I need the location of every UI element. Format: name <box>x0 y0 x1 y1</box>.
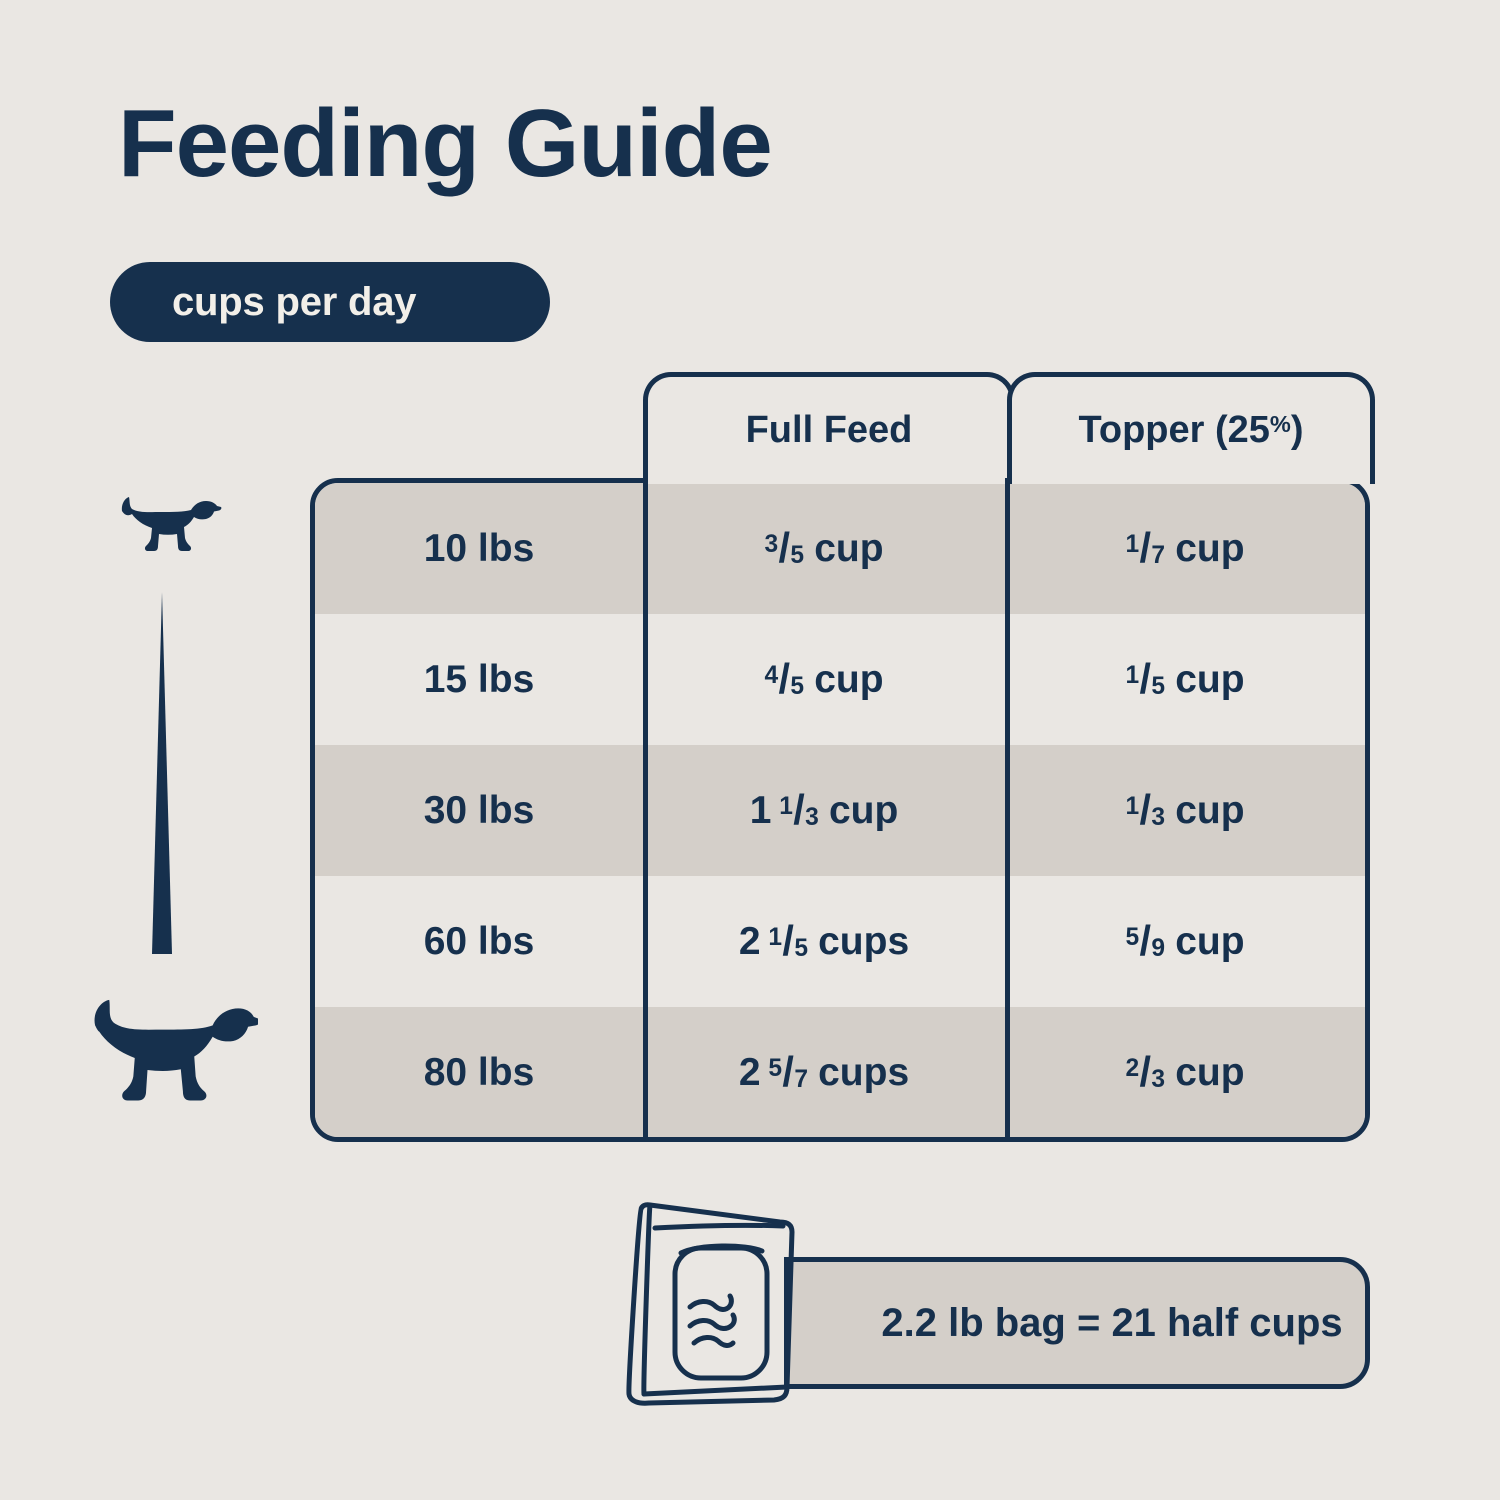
cell-weight: 15 lbs <box>315 614 643 745</box>
cell-topper: 1/5cup <box>1005 614 1365 745</box>
cell-topper: 5/9cup <box>1005 876 1365 1007</box>
table-row: 80 lbs 25/7cups 2/3cup <box>315 1007 1365 1138</box>
page-title: Feeding Guide <box>118 96 772 192</box>
large-dog-icon <box>88 992 258 1114</box>
table-row: 60 lbs 21/5cups 5/9cup <box>315 876 1365 1007</box>
cell-full-feed: 3/5cup <box>643 483 1005 614</box>
feeding-table: Full Feed Topper (25%) 10 lbs 3/5cup 1/7… <box>310 372 1370 1142</box>
size-gradient-wedge-icon <box>142 592 182 962</box>
cell-full-feed: 4/5cup <box>643 614 1005 745</box>
table-row: 15 lbs 4/5cup 1/5cup <box>315 614 1365 745</box>
bag-note: 2.2 lb bag = 21 half cups <box>618 1195 1378 1410</box>
cell-weight: 30 lbs <box>315 745 643 876</box>
small-dog-icon <box>118 490 223 565</box>
subtitle-pill: cups per day <box>110 262 550 342</box>
cell-full-feed: 21/5cups <box>643 876 1005 1007</box>
column-divider <box>643 478 648 1142</box>
dog-size-scale <box>88 480 303 1120</box>
table-row: 10 lbs 3/5cup 1/7cup <box>315 483 1365 614</box>
food-bag-icon <box>618 1195 828 1410</box>
table-row: 30 lbs 11/3cup 1/3cup <box>315 745 1365 876</box>
table-header-topper-label: Topper (25%) <box>1078 409 1303 452</box>
cell-topper: 2/3cup <box>1005 1007 1365 1138</box>
cell-topper: 1/7cup <box>1005 483 1365 614</box>
bag-note-banner: 2.2 lb bag = 21 half cups <box>784 1257 1370 1389</box>
bag-note-text: 2.2 lb bag = 21 half cups <box>811 1301 1342 1346</box>
feeding-table-body: 10 lbs 3/5cup 1/7cup 15 lbs 4/5cup 1/5cu… <box>310 478 1370 1142</box>
table-header-topper: Topper (25%) <box>1007 372 1375 484</box>
cell-topper: 1/3cup <box>1005 745 1365 876</box>
subtitle-pill-label: cups per day <box>172 280 416 325</box>
table-header-full-feed: Full Feed <box>643 372 1015 484</box>
cell-weight: 10 lbs <box>315 483 643 614</box>
cell-full-feed: 25/7cups <box>643 1007 1005 1138</box>
cell-weight: 80 lbs <box>315 1007 643 1138</box>
column-divider <box>1005 478 1010 1142</box>
table-header-full-feed-label: Full Feed <box>746 409 913 452</box>
cell-weight: 60 lbs <box>315 876 643 1007</box>
cell-full-feed: 11/3cup <box>643 745 1005 876</box>
infographic-canvas: Feeding Guide cups per day Full Feed Top… <box>0 0 1500 1500</box>
